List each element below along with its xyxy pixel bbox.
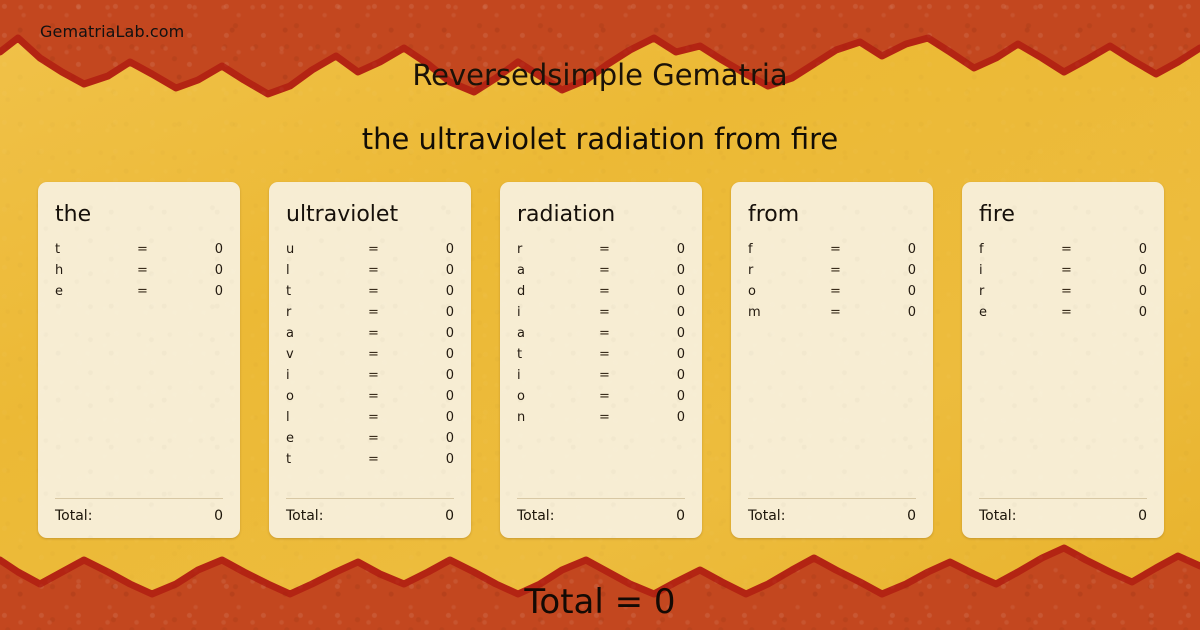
row-value: 0: [643, 410, 685, 425]
row-letter: o: [286, 389, 368, 404]
row-equals: =: [599, 284, 643, 299]
row-value: 0: [412, 242, 454, 257]
row-equals: =: [368, 242, 412, 257]
word-card-total: Total: 0: [979, 498, 1147, 524]
grand-total: Total = 0: [0, 582, 1200, 622]
row-value: 0: [412, 410, 454, 425]
letter-value-row: l = 0: [286, 410, 454, 431]
total-label: Total:: [55, 508, 92, 524]
row-letter: i: [517, 305, 599, 320]
row-equals: =: [830, 305, 874, 320]
row-letter: r: [286, 305, 368, 320]
letter-value-row: i = 0: [286, 368, 454, 389]
letter-value-row: r = 0: [517, 242, 685, 263]
row-letter: i: [979, 263, 1061, 278]
word-card-from: from f = 0 r = 0 o = 0 m = 0 Total: 0: [731, 182, 933, 538]
word-card-ultraviolet: ultraviolet u = 0 l = 0 t = 0 r = 0 a = …: [269, 182, 471, 538]
letter-value-rows: f = 0 r = 0 o = 0 m = 0: [748, 242, 916, 498]
letter-value-rows: t = 0 h = 0 e = 0: [55, 242, 223, 498]
total-label: Total:: [286, 508, 323, 524]
row-letter: f: [748, 242, 830, 257]
row-equals: =: [599, 389, 643, 404]
row-equals: =: [1061, 263, 1105, 278]
row-letter: h: [55, 263, 137, 278]
word-card-total: Total: 0: [286, 498, 454, 524]
word-card-radiation: radiation r = 0 a = 0 d = 0 i = 0 a = 0 …: [500, 182, 702, 538]
row-value: 0: [643, 242, 685, 257]
row-letter: r: [748, 263, 830, 278]
letter-value-row: e = 0: [55, 284, 223, 305]
letter-value-row: u = 0: [286, 242, 454, 263]
row-value: 0: [412, 452, 454, 467]
row-letter: r: [517, 242, 599, 257]
row-value: 0: [643, 284, 685, 299]
row-value: 0: [643, 389, 685, 404]
letter-value-row: i = 0: [979, 263, 1147, 284]
letter-value-row: t = 0: [286, 452, 454, 473]
word-card-title: fire: [979, 204, 1147, 226]
row-value: 0: [643, 368, 685, 383]
letter-value-row: r = 0: [748, 263, 916, 284]
row-equals: =: [1061, 242, 1105, 257]
row-letter: t: [286, 452, 368, 467]
letter-value-row: f = 0: [979, 242, 1147, 263]
site-watermark: GematriaLab.com: [40, 22, 184, 41]
row-letter: m: [748, 305, 830, 320]
word-card-list: the t = 0 h = 0 e = 0 Total: 0 ultraviol…: [38, 182, 1164, 538]
row-value: 0: [643, 347, 685, 362]
row-value: 0: [643, 305, 685, 320]
word-card-the: the t = 0 h = 0 e = 0 Total: 0: [38, 182, 240, 538]
row-equals: =: [368, 452, 412, 467]
gematria-result-card: GematriaLab.com Reversedsimple Gematria …: [0, 0, 1200, 630]
row-value: 0: [874, 305, 916, 320]
letter-value-row: d = 0: [517, 284, 685, 305]
letter-value-row: i = 0: [517, 368, 685, 389]
row-equals: =: [830, 242, 874, 257]
row-letter: n: [517, 410, 599, 425]
row-letter: t: [286, 284, 368, 299]
letter-value-row: t = 0: [286, 284, 454, 305]
letter-value-row: o = 0: [748, 284, 916, 305]
letter-value-row: a = 0: [517, 263, 685, 284]
row-equals: =: [599, 347, 643, 362]
word-card-title: the: [55, 204, 223, 226]
letter-value-row: r = 0: [979, 284, 1147, 305]
row-equals: =: [368, 410, 412, 425]
row-equals: =: [368, 305, 412, 320]
row-equals: =: [368, 284, 412, 299]
row-value: 0: [412, 326, 454, 341]
letter-value-row: t = 0: [517, 347, 685, 368]
row-letter: i: [286, 368, 368, 383]
row-value: 0: [412, 263, 454, 278]
letter-value-row: r = 0: [286, 305, 454, 326]
row-equals: =: [368, 263, 412, 278]
row-letter: f: [979, 242, 1061, 257]
row-letter: i: [517, 368, 599, 383]
row-letter: d: [517, 284, 599, 299]
total-value: 0: [676, 508, 685, 524]
row-equals: =: [1061, 305, 1105, 320]
row-equals: =: [599, 242, 643, 257]
total-value: 0: [907, 508, 916, 524]
row-letter: r: [979, 284, 1061, 299]
word-card-title: from: [748, 204, 916, 226]
word-card-total: Total: 0: [748, 498, 916, 524]
row-equals: =: [599, 368, 643, 383]
row-equals: =: [599, 305, 643, 320]
letter-value-row: a = 0: [286, 326, 454, 347]
row-equals: =: [137, 242, 181, 257]
row-value: 0: [1105, 284, 1147, 299]
total-value: 0: [214, 508, 223, 524]
word-card-title: radiation: [517, 204, 685, 226]
total-label: Total:: [979, 508, 1016, 524]
letter-value-row: l = 0: [286, 263, 454, 284]
letter-value-rows: u = 0 l = 0 t = 0 r = 0 a = 0 v = 0 i = …: [286, 242, 454, 498]
row-equals: =: [830, 284, 874, 299]
row-value: 0: [412, 389, 454, 404]
row-value: 0: [1105, 263, 1147, 278]
row-value: 0: [874, 284, 916, 299]
total-value: 0: [1138, 508, 1147, 524]
letter-value-row: m = 0: [748, 305, 916, 326]
letter-value-row: h = 0: [55, 263, 223, 284]
row-value: 0: [412, 347, 454, 362]
row-value: 0: [412, 284, 454, 299]
total-label: Total:: [517, 508, 554, 524]
row-value: 0: [181, 284, 223, 299]
row-equals: =: [599, 410, 643, 425]
row-value: 0: [181, 242, 223, 257]
row-equals: =: [1061, 284, 1105, 299]
letter-value-row: o = 0: [286, 389, 454, 410]
row-value: 0: [1105, 242, 1147, 257]
row-letter: o: [748, 284, 830, 299]
letter-value-rows: r = 0 a = 0 d = 0 i = 0 a = 0 t = 0 i = …: [517, 242, 685, 498]
row-letter: t: [517, 347, 599, 362]
row-equals: =: [368, 431, 412, 446]
row-value: 0: [412, 305, 454, 320]
total-label: Total:: [748, 508, 785, 524]
row-value: 0: [412, 368, 454, 383]
row-value: 0: [1105, 305, 1147, 320]
row-value: 0: [874, 263, 916, 278]
row-equals: =: [368, 389, 412, 404]
row-letter: u: [286, 242, 368, 257]
letter-value-row: e = 0: [286, 431, 454, 452]
word-card-total: Total: 0: [517, 498, 685, 524]
row-equals: =: [599, 263, 643, 278]
row-value: 0: [874, 242, 916, 257]
letter-value-row: t = 0: [55, 242, 223, 263]
row-equals: =: [137, 263, 181, 278]
row-letter: l: [286, 263, 368, 278]
phrase-heading: the ultraviolet radiation from fire: [0, 122, 1200, 156]
row-equals: =: [599, 326, 643, 341]
letter-value-row: v = 0: [286, 347, 454, 368]
row-value: 0: [181, 263, 223, 278]
row-letter: t: [55, 242, 137, 257]
row-letter: a: [517, 326, 599, 341]
cipher-title: Reversedsimple Gematria: [0, 58, 1200, 92]
word-card-total: Total: 0: [55, 498, 223, 524]
row-equals: =: [368, 347, 412, 362]
row-letter: o: [517, 389, 599, 404]
letter-value-row: f = 0: [748, 242, 916, 263]
word-card-title: ultraviolet: [286, 204, 454, 226]
row-letter: v: [286, 347, 368, 362]
row-value: 0: [643, 326, 685, 341]
row-equals: =: [830, 263, 874, 278]
total-value: 0: [445, 508, 454, 524]
letter-value-row: i = 0: [517, 305, 685, 326]
row-letter: a: [286, 326, 368, 341]
row-value: 0: [643, 263, 685, 278]
word-card-fire: fire f = 0 i = 0 r = 0 e = 0 Total: 0: [962, 182, 1164, 538]
letter-value-row: a = 0: [517, 326, 685, 347]
row-value: 0: [412, 431, 454, 446]
letter-value-rows: f = 0 i = 0 r = 0 e = 0: [979, 242, 1147, 498]
letter-value-row: e = 0: [979, 305, 1147, 326]
row-equals: =: [368, 368, 412, 383]
row-letter: e: [286, 431, 368, 446]
letter-value-row: o = 0: [517, 389, 685, 410]
row-letter: l: [286, 410, 368, 425]
letter-value-row: n = 0: [517, 410, 685, 431]
row-letter: e: [55, 284, 137, 299]
row-letter: e: [979, 305, 1061, 320]
row-equals: =: [368, 326, 412, 341]
row-letter: a: [517, 263, 599, 278]
row-equals: =: [137, 284, 181, 299]
